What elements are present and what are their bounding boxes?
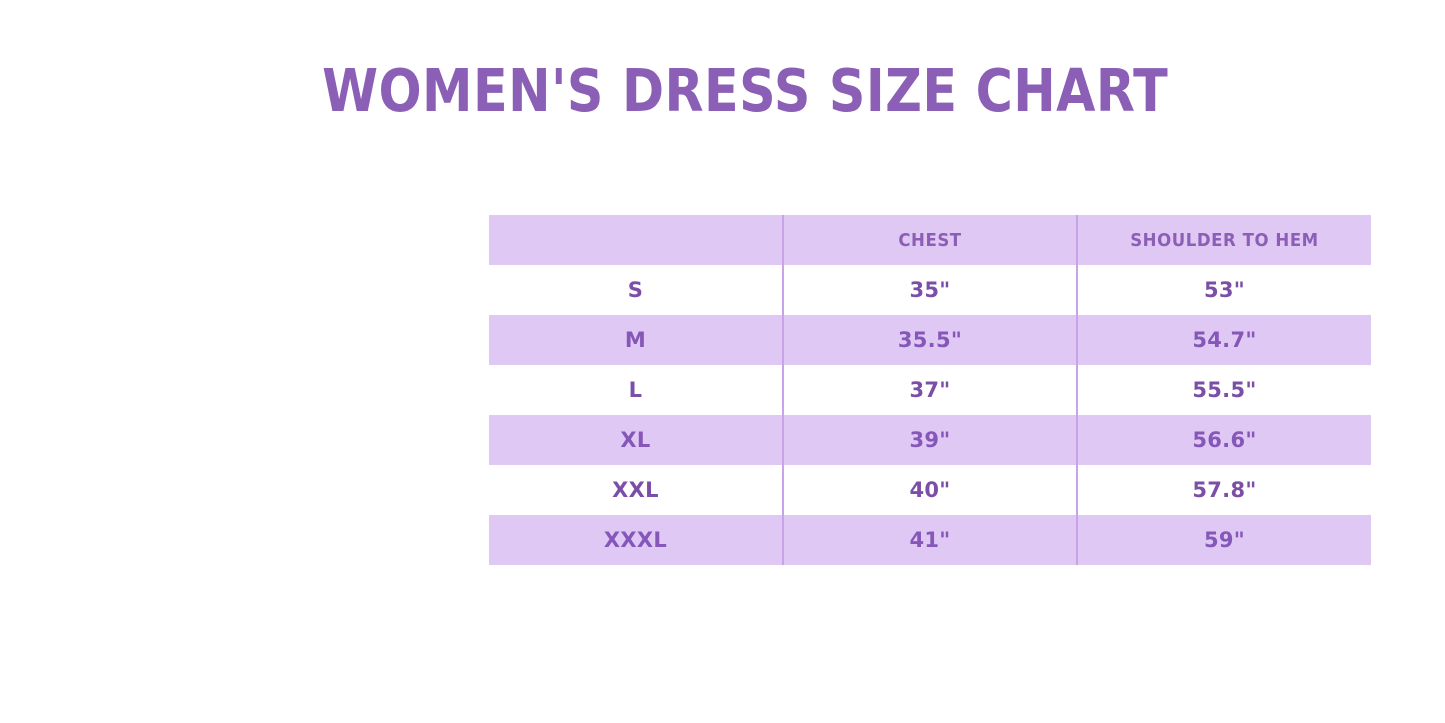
size-chart-page: WOMEN'S DRESS SIZE CHART CHEST SHOULDER …	[0, 0, 1445, 723]
header-row: CHEST SHOULDER TO HEM	[489, 215, 1371, 265]
page-title: WOMEN'S DRESS SIZE CHART	[124, 55, 1367, 127]
cell-shoulder-to-hem: 53"	[1077, 265, 1371, 315]
table-row: XXXL 41" 59"	[489, 515, 1371, 565]
size-table: CHEST SHOULDER TO HEM S 35" 53" M 35.5" …	[489, 215, 1371, 565]
table-row: XXL 40" 57.8"	[489, 465, 1371, 515]
table-row: L 37" 55.5"	[489, 365, 1371, 415]
cell-size: M	[489, 315, 783, 365]
cell-size: XXL	[489, 465, 783, 515]
table-header: CHEST SHOULDER TO HEM	[489, 215, 1371, 265]
cell-chest: 41"	[783, 515, 1077, 565]
cell-size: XXXL	[489, 515, 783, 565]
cell-size: XL	[489, 415, 783, 465]
cell-chest: 37"	[783, 365, 1077, 415]
cell-shoulder-to-hem: 55.5"	[1077, 365, 1371, 415]
cell-chest: 40"	[783, 465, 1077, 515]
cell-shoulder-to-hem: 57.8"	[1077, 465, 1371, 515]
cell-size: S	[489, 265, 783, 315]
column-header-chest: CHEST	[795, 215, 1065, 265]
cell-shoulder-to-hem: 54.7"	[1077, 315, 1371, 365]
table-body: S 35" 53" M 35.5" 54.7" L 37" 55.5" XL 3…	[489, 265, 1371, 565]
cell-chest: 39"	[783, 415, 1077, 465]
cell-shoulder-to-hem: 56.6"	[1077, 415, 1371, 465]
table-row: S 35" 53"	[489, 265, 1371, 315]
cell-size: L	[489, 365, 783, 415]
table-row: XL 39" 56.6"	[489, 415, 1371, 465]
cell-chest: 35"	[783, 265, 1077, 315]
column-header-size	[501, 215, 771, 265]
cell-chest: 35.5"	[783, 315, 1077, 365]
size-table-container: CHEST SHOULDER TO HEM S 35" 53" M 35.5" …	[489, 215, 1371, 565]
table-row: M 35.5" 54.7"	[489, 315, 1371, 365]
cell-shoulder-to-hem: 59"	[1077, 515, 1371, 565]
column-header-shoulder-to-hem: SHOULDER TO HEM	[1089, 215, 1359, 265]
